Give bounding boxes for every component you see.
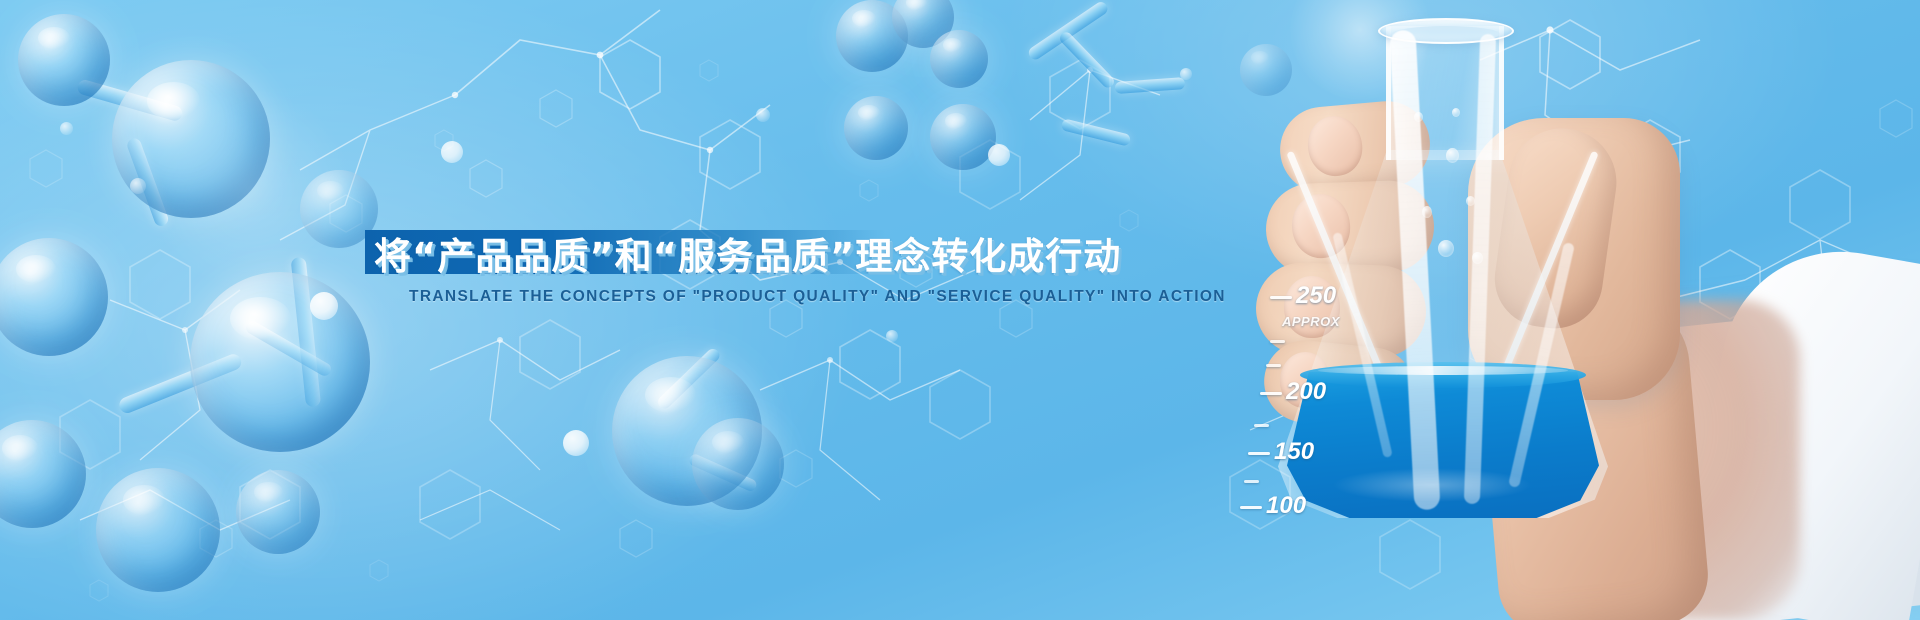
banner-text-block: 将“产品品质”和“服务品质”理念转化成行动 TRANSLATE THE CONC… — [0, 0, 1920, 620]
headline-cn: 将“产品品质”和“服务品质”理念转化成行动 — [374, 225, 1121, 281]
hero-banner: 250 APPROX 200 150 100 将“产品品质”和“服务品质”理念转… — [0, 0, 1920, 620]
subtitle-en: TRANSLATE THE CONCEPTS OF "PRODUCT QUALI… — [409, 288, 1226, 306]
